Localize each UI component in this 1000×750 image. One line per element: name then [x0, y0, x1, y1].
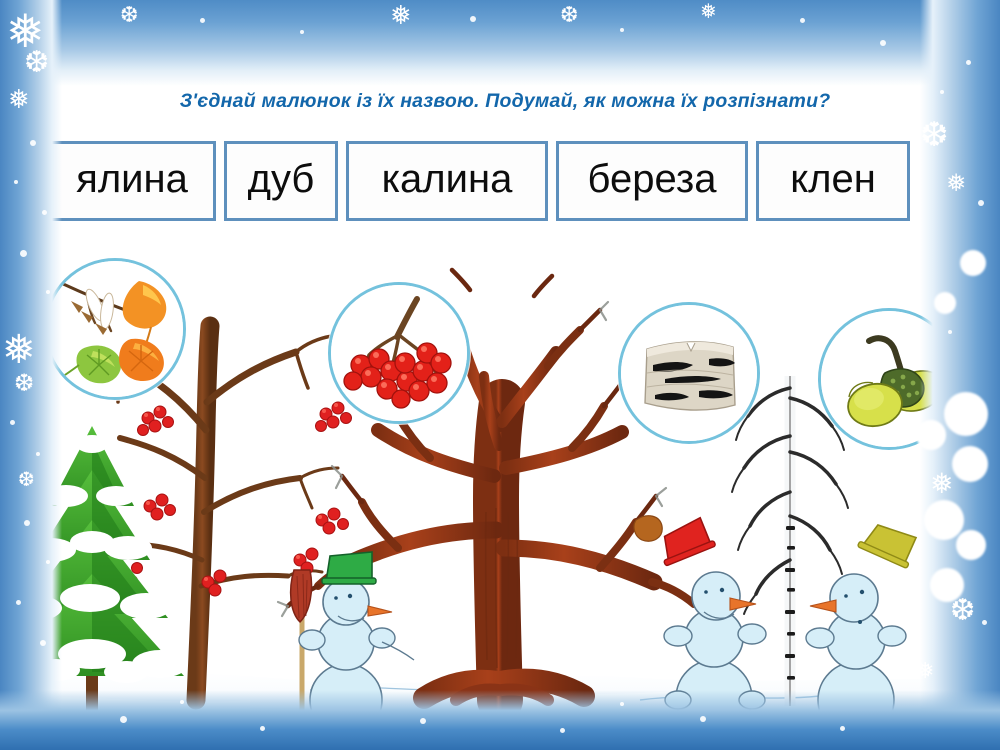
acorns-circle[interactable] [818, 308, 960, 450]
viburnum-berries-art [331, 285, 467, 421]
maple-leaves-art [47, 261, 183, 397]
snowflake-icon: ❅ [700, 2, 717, 22]
word-bank: ялина дуб калина береза клен [48, 141, 918, 219]
snowflake-icon: ❅ [8, 86, 30, 112]
snowflake-icon: ❅ [390, 2, 412, 28]
word-box-klen[interactable]: клен [756, 141, 910, 221]
snowflake-icon: ❅ [946, 172, 966, 196]
word-box-bereza[interactable]: береза [556, 141, 748, 221]
acorns-art [821, 311, 957, 447]
snowflake-icon: ❆ [560, 4, 578, 26]
word-box-yalyna[interactable]: ялина [48, 141, 216, 221]
word-label: береза [588, 159, 717, 199]
word-label: дуб [248, 159, 315, 199]
word-box-dub[interactable]: дуб [224, 141, 338, 221]
frame-top [0, 0, 1000, 86]
oak-dry-leaf [634, 516, 662, 541]
word-label: клен [790, 159, 876, 199]
word-label: калина [382, 159, 513, 199]
worksheet-page: ялина дуб калина береза клен З'єднай мал… [0, 0, 1000, 750]
viburnum-berries-circle[interactable] [328, 282, 470, 424]
snowflake-icon: ❆ [24, 48, 49, 78]
word-label: ялина [76, 159, 188, 199]
birch-bark-circle[interactable] [618, 302, 760, 444]
maple-leaves-circle[interactable] [44, 258, 186, 400]
page-title: З'єднай малюнок із їх назвою. Подумай, я… [60, 90, 950, 124]
snowflake-icon: ❅ [6, 8, 45, 54]
word-box-kalyna[interactable]: калина [346, 141, 548, 221]
snowflake-icon: ❆ [120, 4, 138, 26]
birch-bark-art [621, 305, 757, 441]
